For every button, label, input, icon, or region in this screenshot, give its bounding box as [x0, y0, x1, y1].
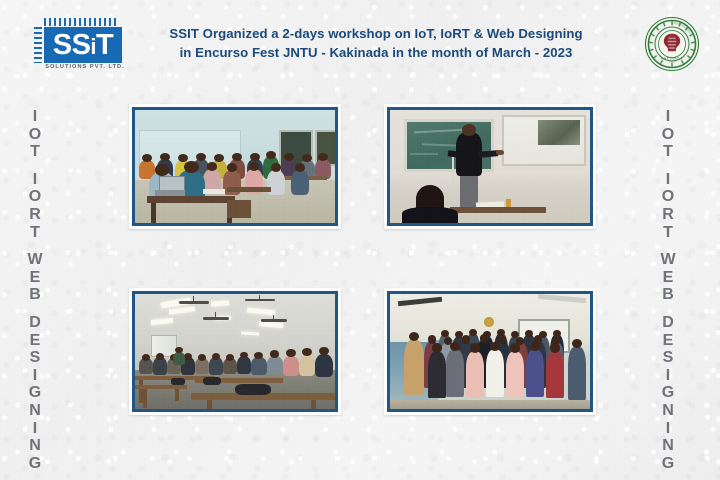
char: G [655, 384, 681, 402]
ssit-logo-wordmark-ss: SS [53, 29, 91, 61]
char: E [655, 269, 681, 287]
ssit-logo-tagline: SOLUTIONS PVT. LTD. [42, 64, 128, 70]
side-caption-left-group-designing: D E S I G N I N G [22, 314, 48, 472]
photo-border [132, 107, 338, 226]
photo-border [387, 291, 593, 412]
char: I [22, 171, 48, 189]
photo-border [387, 107, 593, 226]
poster-header: SSiT SOLUTIONS PVT. LTD. SSIT Organized … [0, 0, 720, 92]
spacer [22, 241, 48, 251]
side-caption-right-group-designing: D E S I G N I N G [655, 314, 681, 472]
char: E [22, 269, 48, 287]
side-caption-left: I O T I O R T W E B D E S I G N I N G [22, 108, 48, 428]
char: G [22, 455, 48, 473]
page-title: SSIT Organized a 2-days workshop on IoT,… [140, 24, 612, 62]
side-caption-right-group-iort: I O R T [655, 171, 681, 241]
char: I [655, 171, 681, 189]
jntu-kakinada-seal: KAKINADA * * * [644, 16, 700, 72]
photo-frame-top-right [384, 104, 596, 229]
photo-frame-bottom-left [129, 288, 341, 415]
photo-frame-bottom-right [384, 288, 596, 415]
char: B [655, 286, 681, 304]
side-caption-left-group-iort: I O R T [22, 171, 48, 241]
char: S [655, 349, 681, 367]
svg-text:* * *: * * * [669, 61, 675, 65]
char: I [655, 367, 681, 385]
char: N [655, 402, 681, 420]
char: W [22, 251, 48, 269]
photo-lecture-hall [135, 294, 335, 409]
spacer [22, 161, 48, 171]
spacer [655, 304, 681, 314]
ssit-logo-chip-left-bars [34, 27, 42, 63]
char: N [22, 402, 48, 420]
char: N [22, 437, 48, 455]
char: D [22, 314, 48, 332]
char: S [22, 349, 48, 367]
char: E [655, 332, 681, 350]
char: I [22, 367, 48, 385]
char: I [22, 108, 48, 126]
char: G [655, 455, 681, 473]
char: I [22, 420, 48, 438]
char: R [22, 206, 48, 224]
photo-border [132, 291, 338, 412]
page-title-line-2: in Encurso Fest JNTU - Kakinada in the m… [140, 43, 612, 62]
ssit-logo-wordmark-t: T [96, 29, 113, 61]
char: E [22, 332, 48, 350]
char: B [22, 286, 48, 304]
side-caption-left-group-iot: I O T [22, 108, 48, 161]
char: N [655, 437, 681, 455]
spacer [655, 161, 681, 171]
char: O [655, 188, 681, 206]
char: O [655, 126, 681, 144]
char: T [22, 224, 48, 242]
char: O [22, 188, 48, 206]
char: T [22, 143, 48, 161]
side-caption-right-group-iot: I O T [655, 108, 681, 161]
char: R [655, 206, 681, 224]
side-caption-left-group-web: W E B [22, 251, 48, 304]
ssit-logo: SSiT SOLUTIONS PVT. LTD. [34, 15, 128, 73]
poster-canvas: SSiT SOLUTIONS PVT. LTD. SSIT Organized … [0, 0, 720, 480]
char: G [22, 384, 48, 402]
ssit-logo-wordmark: SSiT [44, 27, 122, 63]
photo-frame-top-left [129, 104, 341, 229]
photo-classroom-laptops [135, 110, 335, 223]
ssit-logo-chip-top-bars [44, 18, 116, 26]
spacer [22, 304, 48, 314]
photo-presenter-chalkboard [390, 110, 590, 223]
page-title-line-1: SSIT Organized a 2-days workshop on IoT,… [169, 26, 582, 41]
side-caption-right-group-web: W E B [655, 251, 681, 304]
char: T [655, 224, 681, 242]
char: W [655, 251, 681, 269]
char: I [655, 108, 681, 126]
photo-group-participants [390, 294, 590, 409]
char: O [22, 126, 48, 144]
char: I [655, 420, 681, 438]
spacer [655, 241, 681, 251]
char: D [655, 314, 681, 332]
char: T [655, 143, 681, 161]
side-caption-right: I O T I O R T W E B D E S I G N I N G [655, 108, 681, 428]
